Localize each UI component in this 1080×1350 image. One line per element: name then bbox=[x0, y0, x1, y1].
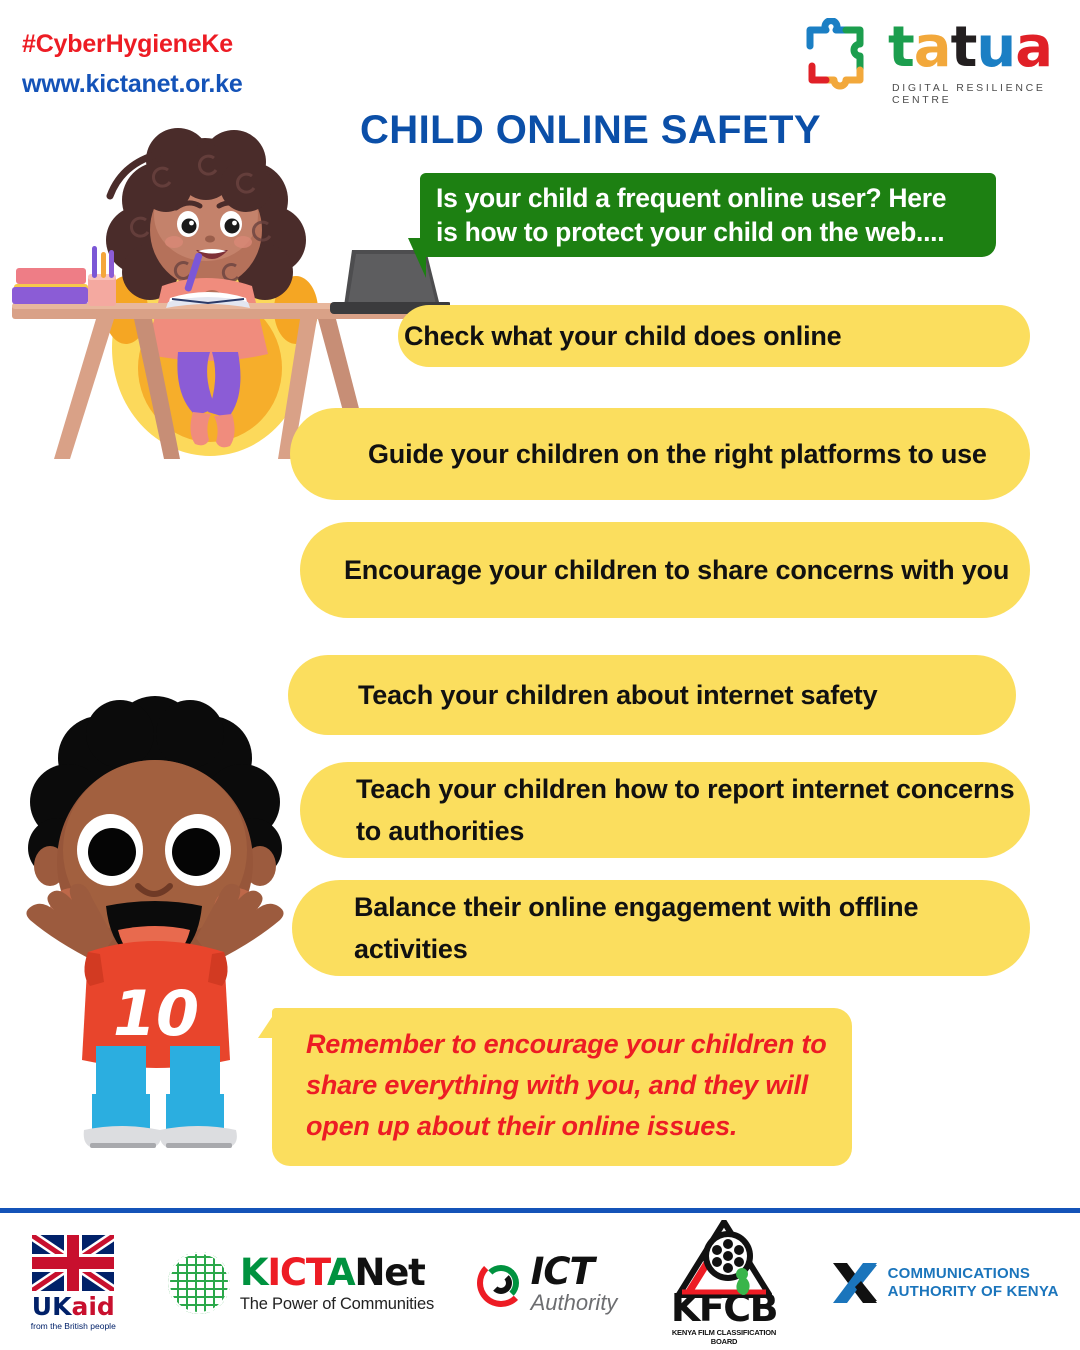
tip-label-2: Guide your children on the right platfor… bbox=[368, 433, 987, 475]
ict-wordmark: ICT bbox=[531, 1253, 618, 1290]
kictanet-letter-c: C bbox=[280, 1251, 306, 1294]
kictanet-letter-k: K bbox=[240, 1251, 267, 1294]
tatua-letter-3: t bbox=[951, 15, 977, 80]
tip-bubble-3: Encourage your children to share concern… bbox=[300, 522, 1030, 618]
tatua-letter-4: u bbox=[976, 15, 1015, 80]
communications-authority-logo: COMMUNICATIONS AUTHORITY OF KENYA bbox=[831, 1259, 1059, 1307]
tip-bubble-4: Teach your children about internet safet… bbox=[288, 655, 1016, 735]
tip-bubble-5: Teach your children how to report intern… bbox=[300, 762, 1030, 858]
ukaid-word-aid: aid bbox=[71, 1292, 114, 1321]
tip-bubble-2: Guide your children on the right platfor… bbox=[290, 408, 1030, 500]
ukaid-logo: UKaid from the British people bbox=[21, 1235, 125, 1331]
footer-logos: UKaid from the British people KICTANet T… bbox=[0, 1216, 1080, 1350]
intro-banner-line1: Is your child a frequent online user? He… bbox=[436, 181, 946, 215]
intro-banner-line2: is how to protect your child on the web.… bbox=[436, 215, 946, 249]
tip-label-1: Check what your child does online bbox=[404, 315, 841, 357]
tip-label-4: Teach your children about internet safet… bbox=[358, 674, 877, 716]
ca-line1: COMMUNICATIONS bbox=[888, 1265, 1059, 1283]
tatua-tagline: DIGITAL RESILIENCE CENTRE bbox=[892, 82, 1062, 106]
kictanet-letter-t: T bbox=[306, 1251, 327, 1294]
website-link[interactable]: www.kictanet.or.ke bbox=[22, 70, 243, 99]
boy-illustration: 10 bbox=[0, 690, 320, 1160]
boy-shirt-number: 10 bbox=[113, 977, 199, 1050]
kictanet-letter-i: I bbox=[267, 1251, 280, 1294]
footer-divider bbox=[0, 1208, 1080, 1213]
tip-bubble-1: Check what your child does online bbox=[398, 305, 1030, 367]
kictanet-wordmark: KICTANet bbox=[240, 1254, 434, 1291]
tatua-letter-5: a bbox=[1015, 15, 1052, 80]
tip-label-6: Balance their online engagement with off… bbox=[354, 886, 1030, 970]
kictanet-logo: KICTANet The Power of Communities bbox=[168, 1252, 434, 1314]
ukaid-wordmark: UKaid bbox=[21, 1293, 125, 1320]
tatua-logo: tatua DIGITAL RESILIENCE CENTRE bbox=[800, 16, 1062, 104]
kfcb-logo: KFCB KENYA FILM CLASSIFICATION BOARD bbox=[660, 1220, 788, 1346]
ukaid-tagline: from the British people bbox=[21, 1321, 125, 1331]
ict-authority-logo: ICT Authority bbox=[477, 1253, 618, 1314]
tatua-letter-1: t bbox=[888, 15, 914, 80]
ca-line2: AUTHORITY OF KENYA bbox=[888, 1283, 1059, 1301]
ukaid-word-uk: UK bbox=[32, 1292, 72, 1321]
intro-banner: Is your child a frequent online user? He… bbox=[420, 173, 996, 257]
circuit-board-icon bbox=[168, 1252, 230, 1314]
tatua-letter-2: a bbox=[914, 15, 951, 80]
kictanet-letter-a: A bbox=[327, 1251, 354, 1294]
tip-label-5: Teach your children how to report intern… bbox=[356, 768, 1030, 852]
tip-label-3: Encourage your children to share concern… bbox=[344, 549, 1009, 591]
ca-x-icon bbox=[831, 1259, 879, 1307]
kictanet-letter-net: Net bbox=[354, 1251, 424, 1294]
tip-bubble-6: Balance their online engagement with off… bbox=[292, 880, 1030, 976]
union-jack-icon bbox=[32, 1235, 114, 1291]
tatua-wordmark: tatua bbox=[888, 18, 1052, 78]
ict-subword: Authority bbox=[531, 1292, 618, 1314]
remember-bubble: Remember to encourage your children to s… bbox=[272, 1008, 852, 1166]
kfcb-tagline: KENYA FILM CLASSIFICATION BOARD bbox=[660, 1328, 788, 1346]
kictanet-tagline: The Power of Communities bbox=[240, 1296, 434, 1313]
ict-swirl-icon bbox=[477, 1259, 525, 1307]
remember-label: Remember to encourage your children to s… bbox=[306, 1024, 830, 1147]
tatua-puzzle-icon bbox=[800, 18, 882, 90]
film-reel-triangle-icon bbox=[676, 1220, 772, 1298]
hashtag-label: #CyberHygieneKe bbox=[22, 30, 233, 59]
